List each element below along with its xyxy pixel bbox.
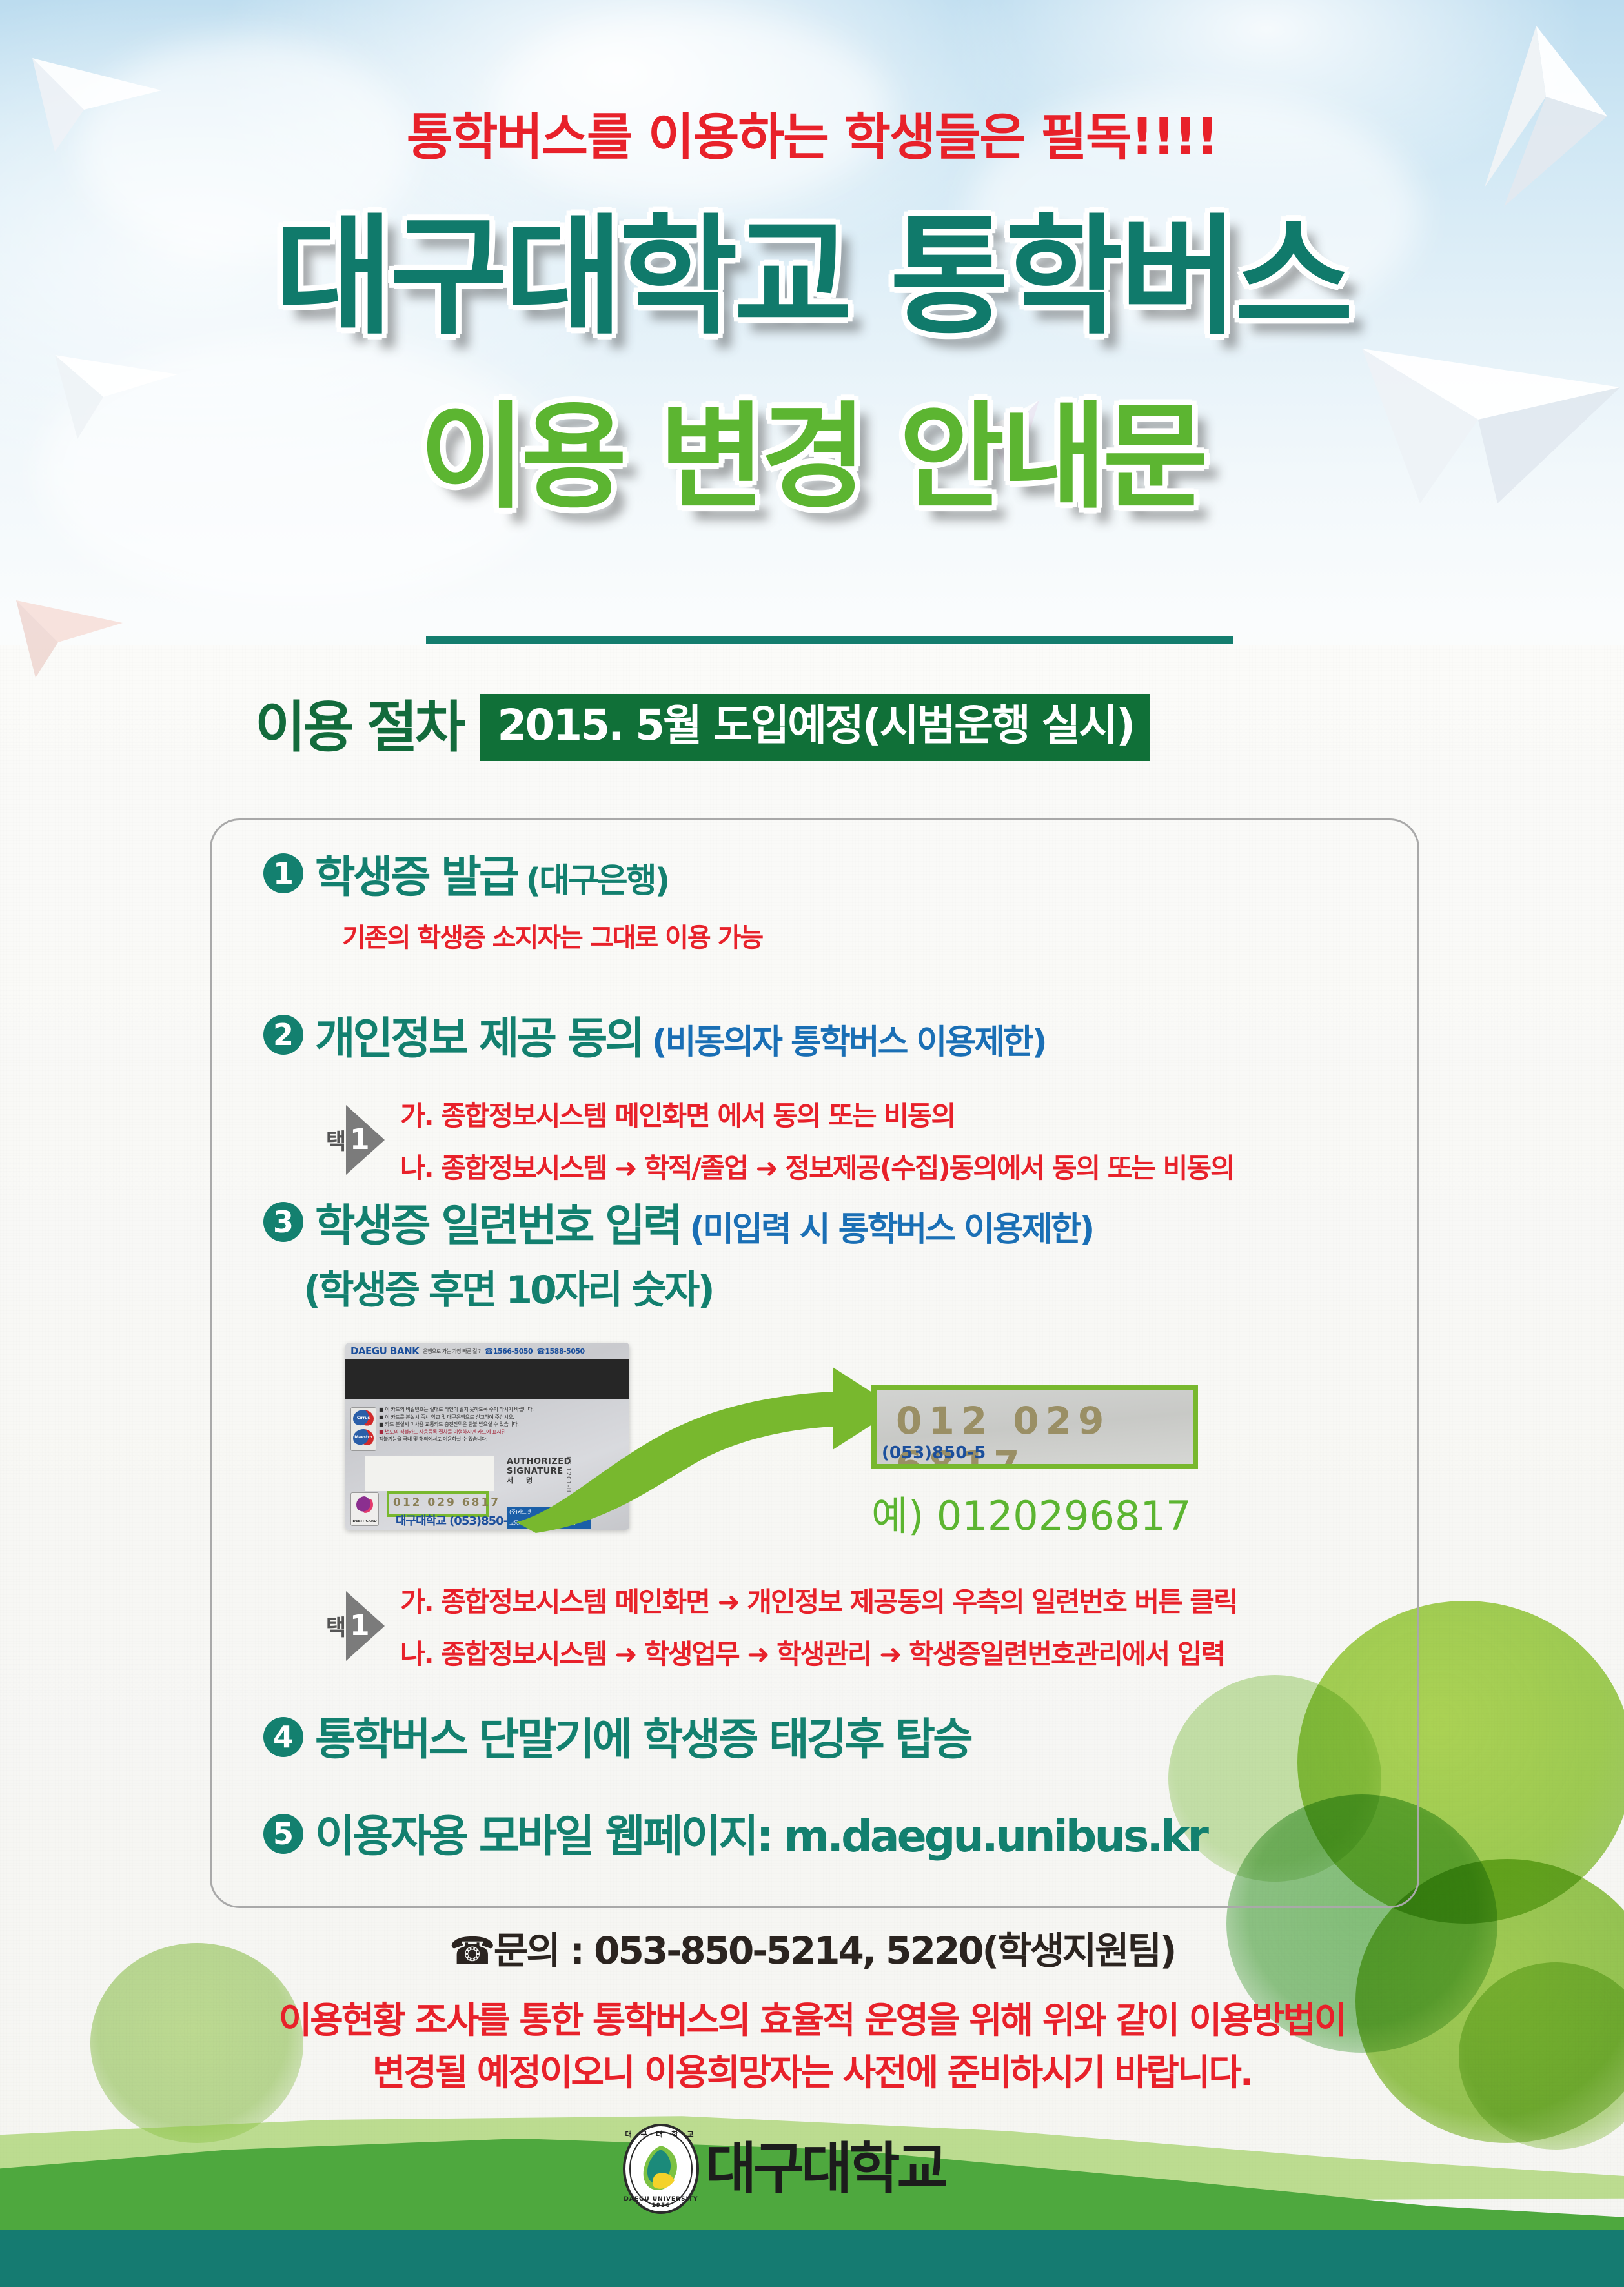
- page-headline: 통학버스를 이용하는 학생들은 필독!!!!: [0, 97, 1624, 169]
- paper-plane-icon: [13, 587, 129, 684]
- choose-one-block-2: 택 1 가. 종합정보시스템 메인화면 ➜ 개인정보 제공동의 우측의 일련번호…: [323, 1580, 1237, 1672]
- serial-callout: 012 029 6817 (053)850-5 예) 0120296817: [871, 1385, 1198, 1541]
- choose-option: 가. 종합정보시스템 메인화면 ➜ 개인정보 제공동의 우측의 일련번호 버튼 …: [400, 1580, 1237, 1620]
- cirrus-label: Cirrus: [351, 1416, 376, 1420]
- step-number-badge: 1: [263, 853, 303, 893]
- poster-title-line2: 이용 변경 안내문: [0, 400, 1624, 515]
- maestro-label: Maestro: [351, 1435, 376, 1439]
- card-bank-name: DAEGU BANK: [350, 1345, 419, 1357]
- footer-notice: 이용현황 조사를 통한 통학버스의 효율적 운영을 위해 위와 같이 이용방법이…: [0, 1995, 1624, 2099]
- contact-line: ☎문의 : 053-850-5214, 5220(학생지원팀): [0, 1920, 1624, 1975]
- choose-count: 1: [350, 1126, 370, 1154]
- choose-label: 택: [323, 1616, 345, 1636]
- debit-card-logo: DEBIT CARD: [350, 1492, 379, 1526]
- step-note: (대구은행): [525, 853, 668, 902]
- card-bank-slogan: 은행으로 가는 가장 빠른 길 ?: [423, 1348, 480, 1355]
- choose-label: 택: [323, 1130, 345, 1150]
- university-name: 대구대학교: [705, 2141, 945, 2197]
- choose-one-block-1: 택 1 가. 종합정보시스템 메인화면 에서 동의 또는 비동의 나. 종합정보…: [323, 1094, 1234, 1186]
- choose-count: 1: [350, 1612, 370, 1640]
- step-note: (미입력 시 통학버스 이용제한): [689, 1202, 1093, 1250]
- seal-english-text: DAEGU UNIVERSITY 1956: [623, 2196, 699, 2209]
- bottom-teal-bar: [0, 2230, 1624, 2287]
- card-serial-number: 012 029 6817: [393, 1496, 500, 1509]
- choose-arrow-icon: 1: [346, 1105, 385, 1175]
- step-item-5: 5 이용자용 모바일 웹페이지: m.daegu.unibus.kr: [263, 1814, 1206, 1860]
- step-number-badge: 4: [263, 1717, 303, 1757]
- footer-notice-line-2: 변경될 예정이오니 이용희망자는 사전에 준비하시기 바랍니다.: [0, 2047, 1624, 2099]
- step-item-2: 2 개인정보 제공 동의 (비동의자 통학버스 이용제한): [263, 1015, 1046, 1063]
- debit-label: DEBIT CARD: [351, 1520, 378, 1523]
- step-subtext-3: (학생증 후면 10자리 숫자): [303, 1259, 713, 1315]
- university-seal-icon: 대 구 대 학 교 DAEGU UNIVERSITY 1956: [623, 2124, 699, 2214]
- step-item-4: 4 통학버스 단말기에 학생증 태깅후 탑승: [263, 1717, 971, 1763]
- seal-korean-text: 대 구 대 학 교: [623, 2129, 699, 2139]
- step-item-1: 1 학생증 발급 (대구은행): [263, 853, 668, 902]
- serial-zoom-under: (053)850-5: [882, 1443, 986, 1463]
- step-number-badge: 3: [263, 1202, 303, 1242]
- choose-arrow-icon: 1: [346, 1591, 385, 1661]
- section-label: 이용 절차: [255, 700, 462, 755]
- step-title: 학생증 발급: [315, 855, 516, 900]
- step-number-badge: 5: [263, 1814, 303, 1854]
- step-subtext-1: 기존의 학생증 소지자는 그대로 이용 가능: [342, 917, 762, 954]
- step-title: 개인정보 제공 동의: [315, 1016, 643, 1062]
- signature-box: [365, 1456, 494, 1491]
- cirrus-maestro-logo: Cirrus Maestro: [350, 1407, 376, 1451]
- seal-emblem-icon: [637, 2140, 685, 2197]
- zoom-arrow-icon: [510, 1349, 910, 1536]
- step-title: 통학버스 단말기에 학생증 태깅후 탑승: [315, 1717, 971, 1763]
- step-note: (비동의자 통학버스 이용제한): [652, 1015, 1046, 1063]
- choose-option: 나. 종합정보시스템 ➜ 학적/졸업 ➜ 정보제공(수집)동의에서 동의 또는 …: [400, 1146, 1234, 1186]
- step-number-badge: 2: [263, 1015, 303, 1055]
- choose-option: 나. 종합정보시스템 ➜ 학생업무 ➜ 학생관리 ➜ 학생증일련번호관리에서 입…: [400, 1632, 1237, 1672]
- university-logo: 대 구 대 학 교 DAEGU UNIVERSITY 1956 대구대학교: [623, 2124, 945, 2214]
- serial-example-text: 예) 0120296817: [871, 1483, 1198, 1541]
- poster-root: 통학버스를 이용하는 학생들은 필독!!!! 대구대학교 통학버스 이용 변경 …: [0, 0, 1624, 2287]
- step-title: 학생증 일련번호 입력: [315, 1203, 680, 1249]
- step-item-3: 3 학생증 일련번호 입력 (미입력 시 통학버스 이용제한): [263, 1202, 1093, 1250]
- section-badge: 2015. 5월 도입예정(시범운행 실시): [480, 694, 1150, 761]
- choose-option: 가. 종합정보시스템 메인화면 에서 동의 또는 비동의: [400, 1094, 1234, 1133]
- serial-zoom-image: 012 029 6817 (053)850-5: [871, 1385, 1198, 1469]
- title-divider: [426, 636, 1233, 644]
- footer-notice-line-1: 이용현황 조사를 통한 통학버스의 효율적 운영을 위해 위와 같이 이용방법이: [0, 1995, 1624, 2047]
- poster-title-line1: 대구대학교 통학버스: [0, 213, 1624, 342]
- step-title: 이용자용 모바일 웹페이지: m.daegu.unibus.kr: [315, 1814, 1206, 1860]
- section-header: 이용 절차 2015. 5월 도입예정(시범운행 실시): [255, 694, 1150, 761]
